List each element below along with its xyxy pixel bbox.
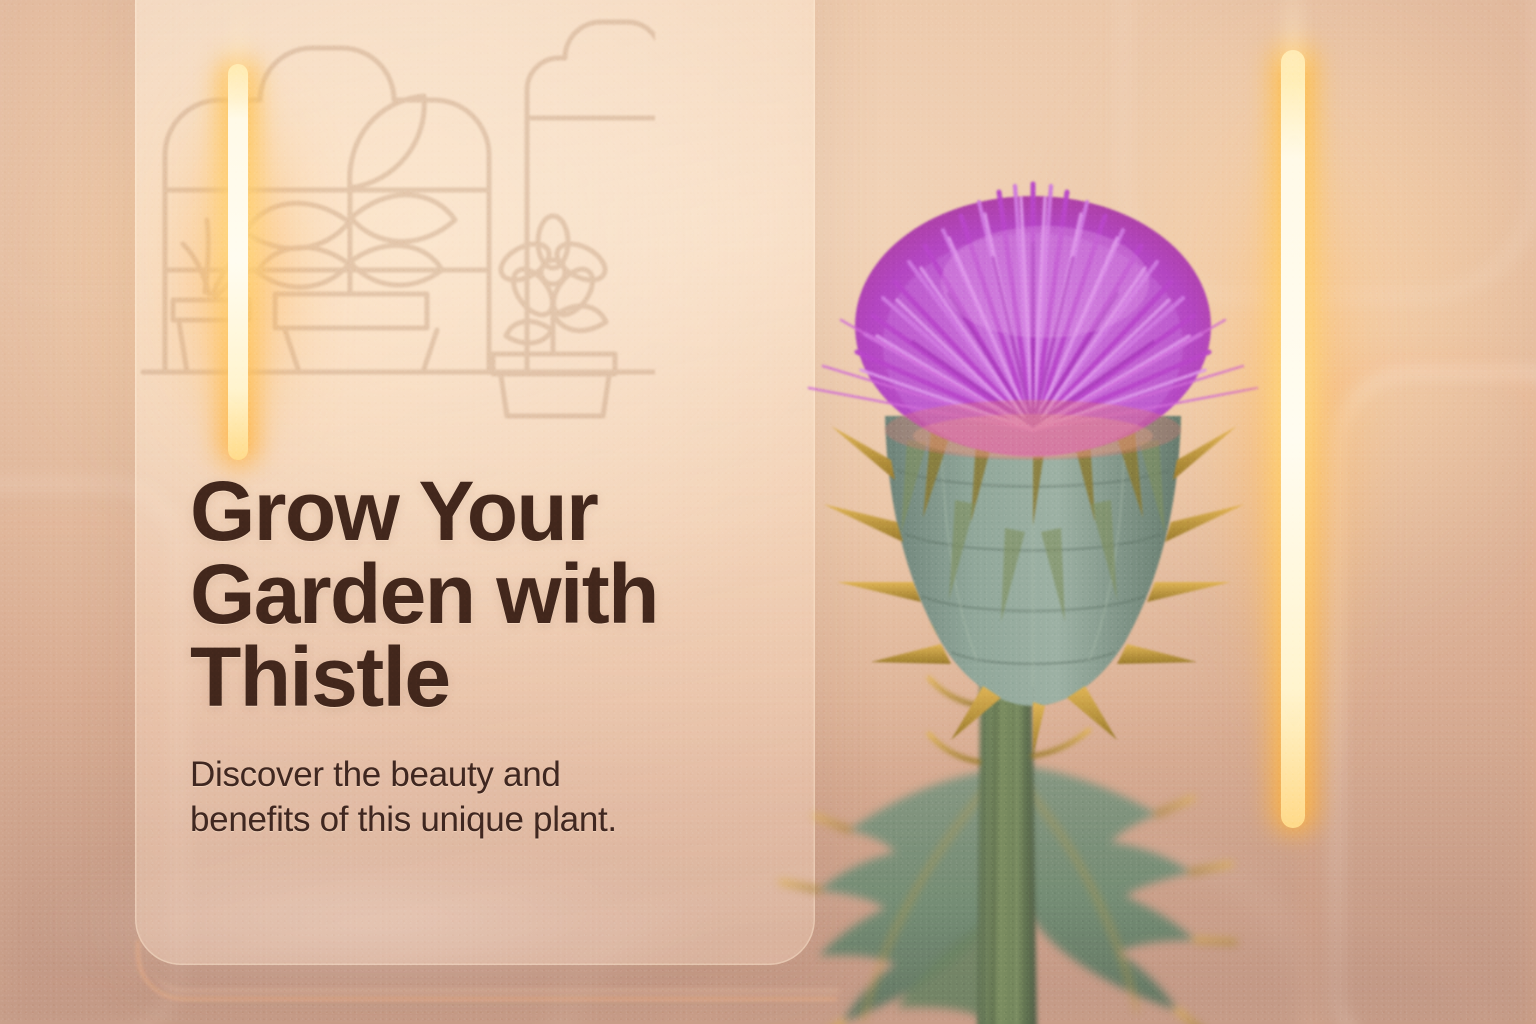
neon-right-core — [1281, 50, 1305, 828]
hero-banner: Grow Your Garden with Thistle Discover t… — [0, 0, 1536, 1024]
neon-right-streak — [1284, 0, 1302, 70]
glass-card-bottom-rim-soft — [150, 952, 840, 992]
hero-copy-block: Grow Your Garden with Thistle Discover t… — [190, 470, 790, 843]
neon-left-streak — [230, 0, 246, 96]
headline-line-3: Thistle — [190, 636, 790, 719]
subtitle-line-2: benefits of this unique plant. — [190, 798, 790, 843]
neon-left-core — [228, 64, 248, 460]
subtitle-line-1: Discover the beauty and — [190, 753, 790, 798]
headline-line-2: Garden with — [190, 553, 790, 636]
page-title: Grow Your Garden with Thistle — [190, 470, 790, 719]
hero-subtitle: Discover the beauty and benefits of this… — [190, 753, 790, 843]
headline-line-1: Grow Your — [190, 470, 790, 553]
